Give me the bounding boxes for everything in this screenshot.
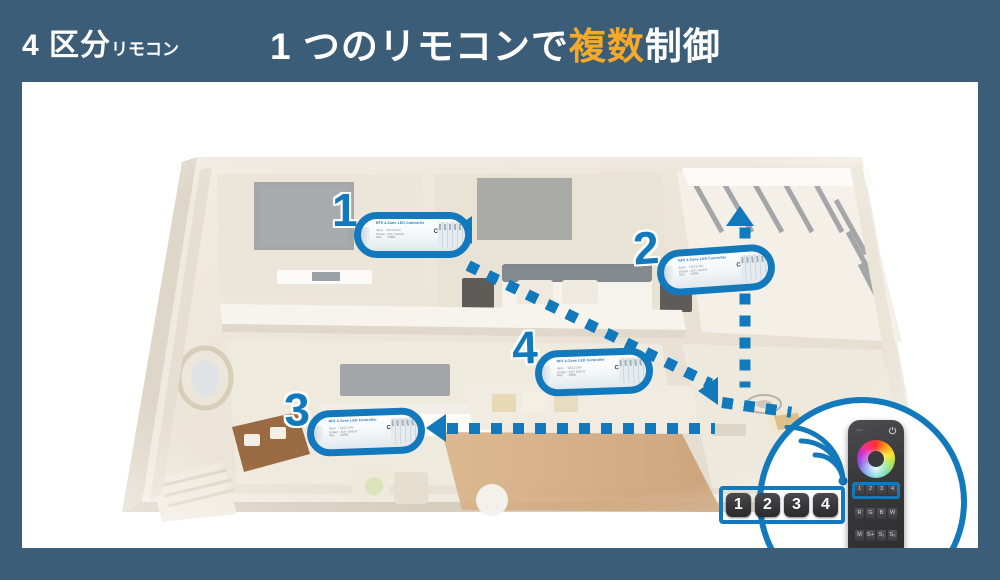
zone-count-main: 4 区分 (22, 29, 111, 62)
title-part-1: 1 つのリモコンで (270, 26, 569, 67)
mode-key-row[interactable]: M S+ S₁ S₂ (855, 530, 897, 541)
mode-key-m[interactable]: M (855, 530, 864, 541)
mode-key-splus[interactable]: S+ (866, 530, 875, 541)
zone-count-sub: リモコン (111, 40, 179, 59)
color-key-b[interactable]: B (877, 508, 886, 519)
controller-module-2[interactable]: 2 RF5 4-Zone LED Controller Input : DC12… (656, 243, 777, 297)
controller-module-4[interactable]: 4 RF5 4-Zone LED Controller Input : DC12… (534, 347, 654, 397)
module-highlight-frame (656, 243, 777, 297)
color-key-row[interactable]: R G B W (855, 508, 897, 519)
controller-module-3[interactable]: 3 RF5 4-Zone LED Controller Input : DC12… (306, 407, 426, 457)
controller-module-1[interactable]: 1 RF5 4-Zone LED Controller Input : DC12… (354, 212, 472, 258)
arrow-to-module-3 (426, 414, 446, 442)
magnified-key-1[interactable]: 1 (726, 493, 751, 517)
zone-count-label: 4 区分リモコン (22, 20, 179, 64)
zone-keys-magnified-callout: 1 2 3 4 (719, 486, 845, 524)
color-key-r[interactable]: R (855, 508, 864, 519)
module-number-4: 4 (511, 327, 538, 368)
color-wheel-touchpad[interactable] (857, 440, 895, 478)
module-number-1: 1 (332, 190, 358, 230)
arrow-to-module-2 (726, 206, 754, 226)
magnified-key-3[interactable]: 3 (784, 493, 809, 517)
magnified-key-4[interactable]: 4 (813, 493, 838, 517)
illustration-panel: 1 RF5 4-Zone LED Controller Input : DC12… (22, 82, 978, 548)
module-number-3: 3 (283, 389, 310, 430)
rf-remote-control[interactable]: 1 2 3 4 R G B W M S+ S₁ S₂ (848, 420, 904, 548)
module-highlight-frame (534, 347, 654, 397)
mode-key-s1[interactable]: S₁ (877, 530, 886, 541)
color-key-w[interactable]: W (888, 508, 897, 519)
dash-segment (447, 423, 715, 434)
magnified-key-2[interactable]: 2 (755, 493, 780, 517)
module-number-2: 2 (632, 227, 660, 269)
page-title: 1 つのリモコンで複数制御 (270, 16, 721, 70)
dash-segment (721, 397, 792, 418)
wifi-waves-icon (781, 425, 851, 487)
color-key-g[interactable]: G (866, 508, 875, 519)
title-part-2: 制御 (645, 26, 721, 67)
remote-indicator-dash (856, 429, 863, 431)
mode-key-s2[interactable]: S₂ (888, 530, 897, 541)
title-highlight: 複数 (569, 26, 645, 67)
annotation-overlay: 1 RF5 4-Zone LED Controller Input : DC12… (22, 82, 978, 548)
header-bar: 4 区分リモコン 1 つのリモコンで複数制御 (0, 0, 1000, 84)
signal-path-to-module-4 (721, 397, 792, 418)
module-highlight-frame (306, 407, 426, 457)
zone-key-row-highlight (852, 482, 900, 499)
signal-path-to-module-3 (447, 423, 715, 434)
power-icon[interactable] (888, 426, 897, 435)
module-highlight-frame (354, 212, 472, 258)
